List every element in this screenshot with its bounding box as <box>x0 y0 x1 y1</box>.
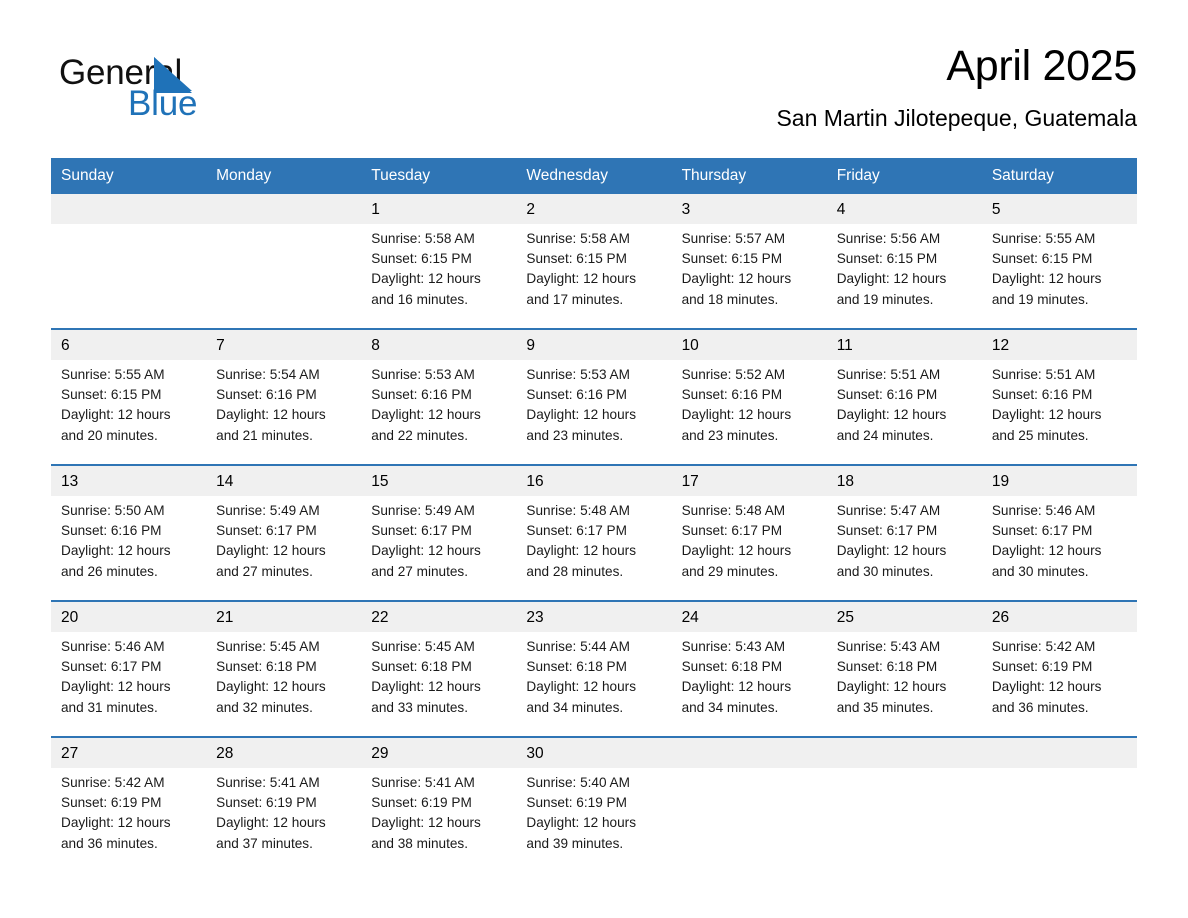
daylight-text-line1: Daylight: 12 hours <box>837 677 974 697</box>
day-details: Sunrise: 5:45 AMSunset: 6:18 PMDaylight:… <box>361 632 516 726</box>
sunrise-text: Sunrise: 5:58 AM <box>526 229 663 249</box>
daylight-text-line2: and 19 minutes. <box>837 290 974 310</box>
day-number: 19 <box>982 466 1137 496</box>
day-number: 18 <box>827 466 982 496</box>
sunrise-text: Sunrise: 5:50 AM <box>61 501 198 521</box>
sunset-text: Sunset: 6:19 PM <box>216 793 353 813</box>
day-number: 4 <box>827 194 982 224</box>
daylight-text-line1: Daylight: 12 hours <box>216 677 353 697</box>
calendar-cell-empty <box>982 738 1137 872</box>
calendar-day-cell[interactable]: 5Sunrise: 5:55 AMSunset: 6:15 PMDaylight… <box>982 194 1137 328</box>
day-details: Sunrise: 5:52 AMSunset: 6:16 PMDaylight:… <box>672 360 827 454</box>
calendar-day-cell[interactable]: 24Sunrise: 5:43 AMSunset: 6:18 PMDayligh… <box>672 602 827 736</box>
calendar-week-row: 1Sunrise: 5:58 AMSunset: 6:15 PMDaylight… <box>51 194 1137 328</box>
day-details: Sunrise: 5:49 AMSunset: 6:17 PMDaylight:… <box>206 496 361 590</box>
weekday-header-row: Sunday Monday Tuesday Wednesday Thursday… <box>51 158 1137 194</box>
day-details: Sunrise: 5:57 AMSunset: 6:15 PMDaylight:… <box>672 224 827 318</box>
daylight-text-line1: Daylight: 12 hours <box>682 541 819 561</box>
day-number: 21 <box>206 602 361 632</box>
daylight-text-line2: and 24 minutes. <box>837 426 974 446</box>
calendar-week-row: 13Sunrise: 5:50 AMSunset: 6:16 PMDayligh… <box>51 464 1137 600</box>
day-details: Sunrise: 5:55 AMSunset: 6:15 PMDaylight:… <box>982 224 1137 318</box>
location-subtitle: San Martin Jilotepeque, Guatemala <box>776 105 1137 132</box>
day-details: Sunrise: 5:51 AMSunset: 6:16 PMDaylight:… <box>982 360 1137 454</box>
calendar-day-cell[interactable]: 10Sunrise: 5:52 AMSunset: 6:16 PMDayligh… <box>672 330 827 464</box>
sunset-text: Sunset: 6:19 PM <box>371 793 508 813</box>
sunrise-text: Sunrise: 5:45 AM <box>371 637 508 657</box>
sunrise-text: Sunrise: 5:58 AM <box>371 229 508 249</box>
day-details: Sunrise: 5:42 AMSunset: 6:19 PMDaylight:… <box>51 768 206 862</box>
calendar-week-row: 27Sunrise: 5:42 AMSunset: 6:19 PMDayligh… <box>51 736 1137 872</box>
day-details: Sunrise: 5:56 AMSunset: 6:15 PMDaylight:… <box>827 224 982 318</box>
day-details: Sunrise: 5:46 AMSunset: 6:17 PMDaylight:… <box>982 496 1137 590</box>
daylight-text-line1: Daylight: 12 hours <box>992 541 1129 561</box>
sunrise-text: Sunrise: 5:53 AM <box>371 365 508 385</box>
daylight-text-line1: Daylight: 12 hours <box>371 813 508 833</box>
sunset-text: Sunset: 6:16 PM <box>216 385 353 405</box>
title-block: April 2025 San Martin Jilotepeque, Guate… <box>776 40 1137 132</box>
calendar-day-cell[interactable]: 4Sunrise: 5:56 AMSunset: 6:15 PMDaylight… <box>827 194 982 328</box>
daylight-text-line1: Daylight: 12 hours <box>837 269 974 289</box>
sunset-text: Sunset: 6:16 PM <box>992 385 1129 405</box>
day-number: 17 <box>672 466 827 496</box>
daylight-text-line1: Daylight: 12 hours <box>61 541 198 561</box>
day-details: Sunrise: 5:47 AMSunset: 6:17 PMDaylight:… <box>827 496 982 590</box>
day-details: Sunrise: 5:42 AMSunset: 6:19 PMDaylight:… <box>982 632 1137 726</box>
daylight-text-line1: Daylight: 12 hours <box>526 677 663 697</box>
sunrise-text: Sunrise: 5:55 AM <box>992 229 1129 249</box>
day-number: 6 <box>51 330 206 360</box>
day-number: 27 <box>51 738 206 768</box>
daylight-text-line1: Daylight: 12 hours <box>837 405 974 425</box>
day-number: 26 <box>982 602 1137 632</box>
daylight-text-line2: and 36 minutes. <box>992 698 1129 718</box>
sunset-text: Sunset: 6:17 PM <box>371 521 508 541</box>
daylight-text-line2: and 34 minutes. <box>682 698 819 718</box>
day-number: 30 <box>516 738 671 768</box>
daylight-text-line1: Daylight: 12 hours <box>526 269 663 289</box>
calendar-cell-empty <box>672 738 827 872</box>
sunrise-text: Sunrise: 5:43 AM <box>837 637 974 657</box>
day-number: 9 <box>516 330 671 360</box>
daylight-text-line2: and 19 minutes. <box>992 290 1129 310</box>
daylight-text-line1: Daylight: 12 hours <box>682 269 819 289</box>
day-number: 5 <box>982 194 1137 224</box>
calendar-day-cell[interactable]: 26Sunrise: 5:42 AMSunset: 6:19 PMDayligh… <box>982 602 1137 736</box>
day-details: Sunrise: 5:43 AMSunset: 6:18 PMDaylight:… <box>827 632 982 726</box>
daylight-text-line2: and 26 minutes. <box>61 562 198 582</box>
daylight-text-line1: Daylight: 12 hours <box>371 541 508 561</box>
calendar-day-cell[interactable]: 13Sunrise: 5:50 AMSunset: 6:16 PMDayligh… <box>51 466 206 600</box>
calendar-cell-empty <box>827 738 982 872</box>
daylight-text-line2: and 34 minutes. <box>526 698 663 718</box>
sunrise-text: Sunrise: 5:41 AM <box>371 773 508 793</box>
general-blue-logo[interactable]: General Blue <box>51 45 311 125</box>
sunrise-text: Sunrise: 5:55 AM <box>61 365 198 385</box>
day-number: 7 <box>206 330 361 360</box>
sunrise-text: Sunrise: 5:41 AM <box>216 773 353 793</box>
daylight-text-line2: and 25 minutes. <box>992 426 1129 446</box>
page-title: April 2025 <box>776 40 1137 92</box>
calendar-day-cell[interactable]: 18Sunrise: 5:47 AMSunset: 6:17 PMDayligh… <box>827 466 982 600</box>
sunset-text: Sunset: 6:15 PM <box>992 249 1129 269</box>
day-number <box>206 194 361 224</box>
day-number: 8 <box>361 330 516 360</box>
day-details: Sunrise: 5:53 AMSunset: 6:16 PMDaylight:… <box>516 360 671 454</box>
calendar-day-cell[interactable]: 25Sunrise: 5:43 AMSunset: 6:18 PMDayligh… <box>827 602 982 736</box>
sunset-text: Sunset: 6:17 PM <box>992 521 1129 541</box>
daylight-text-line1: Daylight: 12 hours <box>216 405 353 425</box>
calendar-cell-empty <box>51 194 206 328</box>
sunset-text: Sunset: 6:17 PM <box>682 521 819 541</box>
calendar-day-cell[interactable]: 11Sunrise: 5:51 AMSunset: 6:16 PMDayligh… <box>827 330 982 464</box>
daylight-text-line2: and 31 minutes. <box>61 698 198 718</box>
day-details: Sunrise: 5:43 AMSunset: 6:18 PMDaylight:… <box>672 632 827 726</box>
sunrise-text: Sunrise: 5:56 AM <box>837 229 974 249</box>
weekday-header-wednesday: Wednesday <box>516 158 671 194</box>
weekday-header-monday: Monday <box>206 158 361 194</box>
daylight-text-line2: and 30 minutes. <box>837 562 974 582</box>
daylight-text-line1: Daylight: 12 hours <box>371 269 508 289</box>
daylight-text-line1: Daylight: 12 hours <box>61 405 198 425</box>
daylight-text-line1: Daylight: 12 hours <box>526 813 663 833</box>
day-number: 13 <box>51 466 206 496</box>
daylight-text-line1: Daylight: 12 hours <box>371 677 508 697</box>
day-details: Sunrise: 5:58 AMSunset: 6:15 PMDaylight:… <box>361 224 516 318</box>
sunrise-text: Sunrise: 5:57 AM <box>682 229 819 249</box>
daylight-text-line1: Daylight: 12 hours <box>371 405 508 425</box>
sunrise-text: Sunrise: 5:46 AM <box>61 637 198 657</box>
weekday-header-tuesday: Tuesday <box>361 158 516 194</box>
sunrise-text: Sunrise: 5:48 AM <box>526 501 663 521</box>
day-details: Sunrise: 5:48 AMSunset: 6:17 PMDaylight:… <box>672 496 827 590</box>
daylight-text-line2: and 28 minutes. <box>526 562 663 582</box>
sunset-text: Sunset: 6:18 PM <box>682 657 819 677</box>
daylight-text-line2: and 17 minutes. <box>526 290 663 310</box>
sunset-text: Sunset: 6:16 PM <box>371 385 508 405</box>
calendar-day-cell[interactable]: 19Sunrise: 5:46 AMSunset: 6:17 PMDayligh… <box>982 466 1137 600</box>
sunrise-text: Sunrise: 5:49 AM <box>216 501 353 521</box>
day-number: 3 <box>672 194 827 224</box>
sunrise-text: Sunrise: 5:53 AM <box>526 365 663 385</box>
sunrise-text: Sunrise: 5:47 AM <box>837 501 974 521</box>
day-details: Sunrise: 5:45 AMSunset: 6:18 PMDaylight:… <box>206 632 361 726</box>
daylight-text-line2: and 20 minutes. <box>61 426 198 446</box>
sunrise-text: Sunrise: 5:42 AM <box>992 637 1129 657</box>
sunrise-text: Sunrise: 5:48 AM <box>682 501 819 521</box>
day-number <box>982 738 1137 768</box>
daylight-text-line2: and 22 minutes. <box>371 426 508 446</box>
day-details: Sunrise: 5:54 AMSunset: 6:16 PMDaylight:… <box>206 360 361 454</box>
day-number <box>51 194 206 224</box>
sunrise-text: Sunrise: 5:40 AM <box>526 773 663 793</box>
calendar-day-cell[interactable]: 7Sunrise: 5:54 AMSunset: 6:16 PMDaylight… <box>206 330 361 464</box>
calendar-day-cell[interactable]: 9Sunrise: 5:53 AMSunset: 6:16 PMDaylight… <box>516 330 671 464</box>
calendar-page: General Blue April 2025 San Martin Jilot… <box>0 0 1188 918</box>
daylight-text-line1: Daylight: 12 hours <box>526 405 663 425</box>
calendar-week-row: 20Sunrise: 5:46 AMSunset: 6:17 PMDayligh… <box>51 600 1137 736</box>
calendar-day-cell[interactable]: 23Sunrise: 5:44 AMSunset: 6:18 PMDayligh… <box>516 602 671 736</box>
sunset-text: Sunset: 6:17 PM <box>837 521 974 541</box>
daylight-text-line2: and 38 minutes. <box>371 834 508 854</box>
calendar-day-cell[interactable]: 16Sunrise: 5:48 AMSunset: 6:17 PMDayligh… <box>516 466 671 600</box>
weekday-header-thursday: Thursday <box>672 158 827 194</box>
sunrise-text: Sunrise: 5:45 AM <box>216 637 353 657</box>
daylight-text-line1: Daylight: 12 hours <box>526 541 663 561</box>
calendar-day-cell[interactable]: 27Sunrise: 5:42 AMSunset: 6:19 PMDayligh… <box>51 738 206 872</box>
sunset-text: Sunset: 6:18 PM <box>526 657 663 677</box>
calendar-day-cell[interactable]: 22Sunrise: 5:45 AMSunset: 6:18 PMDayligh… <box>361 602 516 736</box>
sunrise-text: Sunrise: 5:46 AM <box>992 501 1129 521</box>
calendar-weeks: 1Sunrise: 5:58 AMSunset: 6:15 PMDaylight… <box>51 194 1137 872</box>
daylight-text-line2: and 27 minutes. <box>371 562 508 582</box>
day-details: Sunrise: 5:55 AMSunset: 6:15 PMDaylight:… <box>51 360 206 454</box>
daylight-text-line1: Daylight: 12 hours <box>837 541 974 561</box>
daylight-text-line2: and 23 minutes. <box>526 426 663 446</box>
day-details: Sunrise: 5:41 AMSunset: 6:19 PMDaylight:… <box>361 768 516 862</box>
daylight-text-line2: and 30 minutes. <box>992 562 1129 582</box>
brand-word-blue: Blue <box>128 84 197 124</box>
daylight-text-line1: Daylight: 12 hours <box>992 405 1129 425</box>
sunset-text: Sunset: 6:17 PM <box>526 521 663 541</box>
sunrise-text: Sunrise: 5:52 AM <box>682 365 819 385</box>
day-number: 20 <box>51 602 206 632</box>
day-number: 12 <box>982 330 1137 360</box>
calendar-week-row: 6Sunrise: 5:55 AMSunset: 6:15 PMDaylight… <box>51 328 1137 464</box>
calendar-day-cell[interactable]: 1Sunrise: 5:58 AMSunset: 6:15 PMDaylight… <box>361 194 516 328</box>
sunrise-text: Sunrise: 5:49 AM <box>371 501 508 521</box>
sunrise-text: Sunrise: 5:51 AM <box>837 365 974 385</box>
day-number: 28 <box>206 738 361 768</box>
calendar-day-cell[interactable]: 30Sunrise: 5:40 AMSunset: 6:19 PMDayligh… <box>516 738 671 872</box>
day-number: 14 <box>206 466 361 496</box>
day-number: 16 <box>516 466 671 496</box>
sunset-text: Sunset: 6:16 PM <box>682 385 819 405</box>
sunset-text: Sunset: 6:19 PM <box>526 793 663 813</box>
sunset-text: Sunset: 6:16 PM <box>837 385 974 405</box>
day-number: 15 <box>361 466 516 496</box>
daylight-text-line2: and 16 minutes. <box>371 290 508 310</box>
daylight-text-line1: Daylight: 12 hours <box>216 541 353 561</box>
weekday-header-sunday: Sunday <box>51 158 206 194</box>
calendar-day-cell[interactable]: 3Sunrise: 5:57 AMSunset: 6:15 PMDaylight… <box>672 194 827 328</box>
day-details: Sunrise: 5:40 AMSunset: 6:19 PMDaylight:… <box>516 768 671 862</box>
calendar-day-cell[interactable]: 6Sunrise: 5:55 AMSunset: 6:15 PMDaylight… <box>51 330 206 464</box>
day-details: Sunrise: 5:53 AMSunset: 6:16 PMDaylight:… <box>361 360 516 454</box>
calendar-day-cell[interactable]: 17Sunrise: 5:48 AMSunset: 6:17 PMDayligh… <box>672 466 827 600</box>
sunset-text: Sunset: 6:15 PM <box>371 249 508 269</box>
daylight-text-line2: and 37 minutes. <box>216 834 353 854</box>
sunset-text: Sunset: 6:18 PM <box>371 657 508 677</box>
day-number: 22 <box>361 602 516 632</box>
day-number: 23 <box>516 602 671 632</box>
day-number: 29 <box>361 738 516 768</box>
daylight-text-line2: and 29 minutes. <box>682 562 819 582</box>
daylight-text-line1: Daylight: 12 hours <box>216 813 353 833</box>
sunset-text: Sunset: 6:16 PM <box>61 521 198 541</box>
daylight-text-line2: and 32 minutes. <box>216 698 353 718</box>
daylight-text-line1: Daylight: 12 hours <box>992 677 1129 697</box>
calendar-day-cell[interactable]: 21Sunrise: 5:45 AMSunset: 6:18 PMDayligh… <box>206 602 361 736</box>
daylight-text-line2: and 33 minutes. <box>371 698 508 718</box>
day-number: 25 <box>827 602 982 632</box>
calendar-day-cell[interactable]: 29Sunrise: 5:41 AMSunset: 6:19 PMDayligh… <box>361 738 516 872</box>
sunset-text: Sunset: 6:15 PM <box>61 385 198 405</box>
sunset-text: Sunset: 6:19 PM <box>61 793 198 813</box>
daylight-text-line2: and 39 minutes. <box>526 834 663 854</box>
sunset-text: Sunset: 6:15 PM <box>682 249 819 269</box>
day-details: Sunrise: 5:46 AMSunset: 6:17 PMDaylight:… <box>51 632 206 726</box>
daylight-text-line1: Daylight: 12 hours <box>682 677 819 697</box>
page-header: General Blue April 2025 San Martin Jilot… <box>51 40 1137 140</box>
sunset-text: Sunset: 6:18 PM <box>837 657 974 677</box>
calendar-day-cell[interactable]: 15Sunrise: 5:49 AMSunset: 6:17 PMDayligh… <box>361 466 516 600</box>
sunset-text: Sunset: 6:18 PM <box>216 657 353 677</box>
day-details: Sunrise: 5:49 AMSunset: 6:17 PMDaylight:… <box>361 496 516 590</box>
sunrise-text: Sunrise: 5:54 AM <box>216 365 353 385</box>
calendar-day-cell[interactable]: 2Sunrise: 5:58 AMSunset: 6:15 PMDaylight… <box>516 194 671 328</box>
calendar-cell-empty <box>206 194 361 328</box>
daylight-text-line1: Daylight: 12 hours <box>61 813 198 833</box>
day-details: Sunrise: 5:44 AMSunset: 6:18 PMDaylight:… <box>516 632 671 726</box>
day-number: 24 <box>672 602 827 632</box>
day-details: Sunrise: 5:58 AMSunset: 6:15 PMDaylight:… <box>516 224 671 318</box>
daylight-text-line1: Daylight: 12 hours <box>992 269 1129 289</box>
day-number: 10 <box>672 330 827 360</box>
daylight-text-line2: and 21 minutes. <box>216 426 353 446</box>
calendar-day-cell[interactable]: 20Sunrise: 5:46 AMSunset: 6:17 PMDayligh… <box>51 602 206 736</box>
day-number <box>672 738 827 768</box>
daylight-text-line2: and 23 minutes. <box>682 426 819 446</box>
calendar-day-cell[interactable]: 8Sunrise: 5:53 AMSunset: 6:16 PMDaylight… <box>361 330 516 464</box>
day-number: 11 <box>827 330 982 360</box>
day-number: 2 <box>516 194 671 224</box>
weekday-header-saturday: Saturday <box>982 158 1137 194</box>
daylight-text-line2: and 27 minutes. <box>216 562 353 582</box>
calendar-table: Sunday Monday Tuesday Wednesday Thursday… <box>51 158 1137 872</box>
day-details: Sunrise: 5:50 AMSunset: 6:16 PMDaylight:… <box>51 496 206 590</box>
day-details: Sunrise: 5:51 AMSunset: 6:16 PMDaylight:… <box>827 360 982 454</box>
calendar-day-cell[interactable]: 12Sunrise: 5:51 AMSunset: 6:16 PMDayligh… <box>982 330 1137 464</box>
weekday-header-friday: Friday <box>827 158 982 194</box>
daylight-text-line1: Daylight: 12 hours <box>682 405 819 425</box>
calendar-day-cell[interactable]: 14Sunrise: 5:49 AMSunset: 6:17 PMDayligh… <box>206 466 361 600</box>
daylight-text-line2: and 18 minutes. <box>682 290 819 310</box>
sunset-text: Sunset: 6:16 PM <box>526 385 663 405</box>
sunrise-text: Sunrise: 5:43 AM <box>682 637 819 657</box>
day-number: 1 <box>361 194 516 224</box>
sunset-text: Sunset: 6:15 PM <box>526 249 663 269</box>
calendar-day-cell[interactable]: 28Sunrise: 5:41 AMSunset: 6:19 PMDayligh… <box>206 738 361 872</box>
sunrise-text: Sunrise: 5:44 AM <box>526 637 663 657</box>
sunset-text: Sunset: 6:19 PM <box>992 657 1129 677</box>
daylight-text-line2: and 35 minutes. <box>837 698 974 718</box>
sunset-text: Sunset: 6:15 PM <box>837 249 974 269</box>
sunrise-text: Sunrise: 5:51 AM <box>992 365 1129 385</box>
day-details: Sunrise: 5:41 AMSunset: 6:19 PMDaylight:… <box>206 768 361 862</box>
sunset-text: Sunset: 6:17 PM <box>216 521 353 541</box>
daylight-text-line1: Daylight: 12 hours <box>61 677 198 697</box>
daylight-text-line2: and 36 minutes. <box>61 834 198 854</box>
sunrise-text: Sunrise: 5:42 AM <box>61 773 198 793</box>
sunset-text: Sunset: 6:17 PM <box>61 657 198 677</box>
day-details: Sunrise: 5:48 AMSunset: 6:17 PMDaylight:… <box>516 496 671 590</box>
day-number <box>827 738 982 768</box>
